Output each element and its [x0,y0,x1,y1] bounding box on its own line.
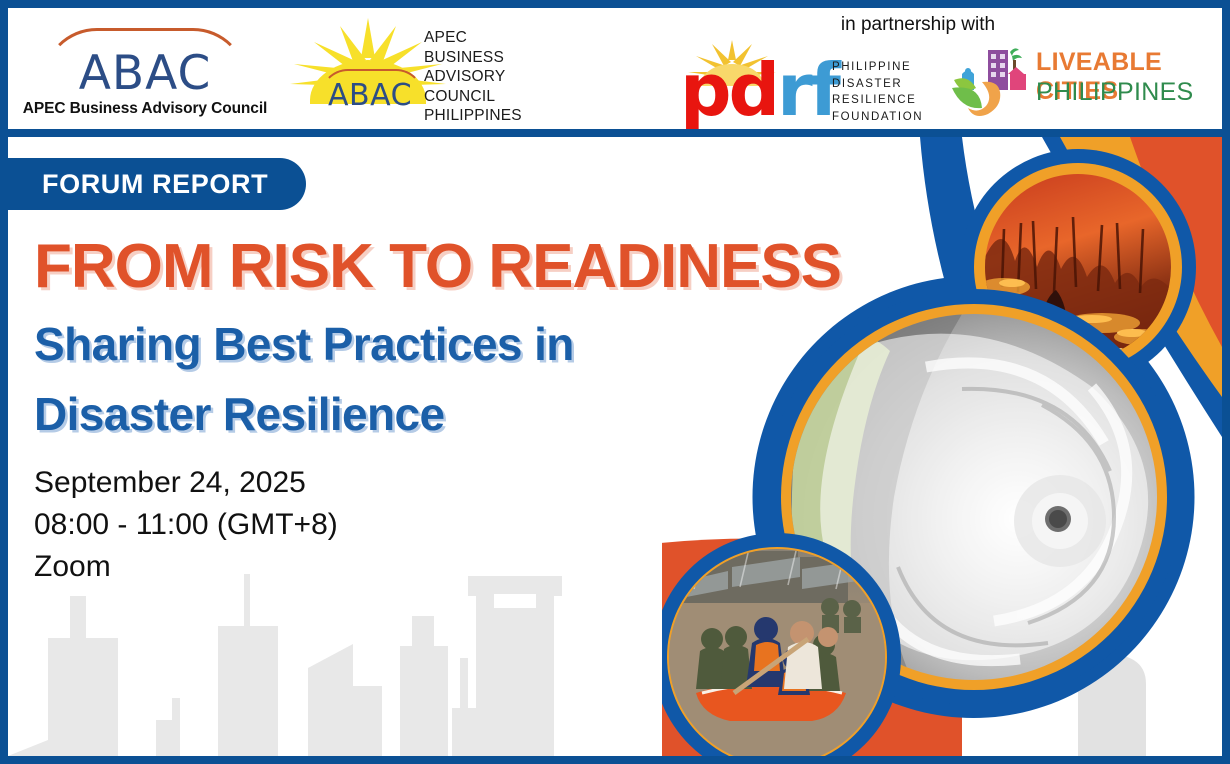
hand-leaf-city-icon [948,44,1034,118]
abac-caption: APEC Business Advisory Council [20,100,270,118]
event-platform: Zoom [34,546,338,588]
abac-ph-line-5: PHILIPPINES [424,106,554,126]
pdrf-line-2: DISASTER [832,76,942,93]
forum-report-poster: ABAC APEC Business Advisory Council [0,0,1230,764]
pdrf-wordmark-pd: pd [680,48,777,129]
pdrf-wordmark-rf: rf [777,48,838,129]
abac-ph-line-1: APEC [424,28,554,48]
abac-ph-line-3: ADVISORY [424,67,554,87]
abac-ph-wordmark: ABAC [300,78,440,113]
pdrf-line-1: PHILIPPINE [832,59,942,76]
liveable-cities-logo: LIVEABLE CITIES PHILIPPINES [948,42,1218,126]
page-subtitle: Sharing Best Practices in Disaster Resil… [34,309,734,449]
pdrf-line-3: RESILIENCE [832,92,942,109]
abac-philippines-logo: ABAC APEC BUSINESS ADVISORY COUNCIL PHIL… [276,16,546,128]
event-date: September 24, 2025 [34,462,338,504]
page-subtitle-line-1: Sharing Best Practices in [34,309,734,379]
partnership-label: in partnership with [608,14,1222,36]
decorative-graphics [662,137,1222,756]
pdrf-logo: pdrf PHILIPPINE DISASTER RESILIENCE FOUN… [680,40,935,129]
logo-header-band: ABAC APEC Business Advisory Council [8,8,1222,129]
abac-wordmark: ABAC [30,46,260,101]
pdrf-wordmark: pdrf [680,54,838,126]
page-subtitle-line-2: Disaster Resilience [34,379,734,449]
pdrf-lines: PHILIPPINE DISASTER RESILIENCE FOUNDATIO… [832,59,942,125]
page-title: FROM RISK TO READINESS [34,234,841,300]
main-content-band: FORUM REPORT FROM RISK TO READINESS Shar… [8,137,1222,756]
abac-ph-line-2: BUSINESS [424,48,554,68]
event-details: September 24, 2025 08:00 - 11:00 (GMT+8)… [34,462,338,588]
event-time: 08:00 - 11:00 (GMT+8) [34,504,338,546]
forum-report-badge: FORUM REPORT [8,158,306,210]
abac-ph-line-4: COUNCIL [424,87,554,107]
liveable-cities-line-2: PHILIPPINES [1036,78,1194,107]
abac-logo: ABAC APEC Business Advisory Council [20,26,270,126]
abac-ph-lines: APEC BUSINESS ADVISORY COUNCIL PHILIPPIN… [424,28,554,126]
pdrf-line-4: FOUNDATION [832,109,942,126]
